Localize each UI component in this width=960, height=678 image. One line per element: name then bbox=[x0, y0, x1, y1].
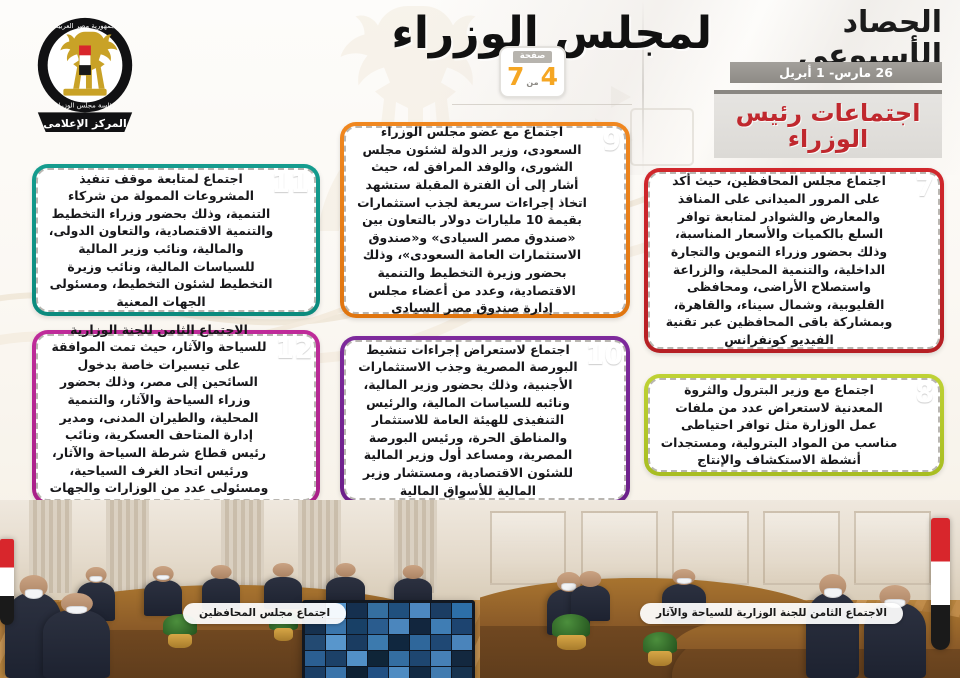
card-number-9: 9 bbox=[602, 128, 621, 155]
photo-caption-left: الاجتماع الثامن للجنة الوزارية للسياحة و… bbox=[640, 603, 903, 624]
card-inner-10: اجتماع لاستعراض إجراءات تنشيط البورصة ال… bbox=[344, 340, 626, 500]
infographic-page: جمهورية مصر العربية رئاسة مجلس الوزراء ا… bbox=[0, 0, 960, 678]
news-card-12[interactable]: 12 الاجتماع الثامن للجنة الوزارية للسياح… bbox=[32, 330, 320, 505]
section-header-title: اجتماعات رئيس الوزراء bbox=[714, 100, 942, 153]
page-badge-numbers: 4 من 7 bbox=[507, 64, 558, 89]
section-header: اجتماعات رئيس الوزراء bbox=[714, 90, 942, 158]
page-number-badge: صفحة 4 من 7 bbox=[499, 46, 566, 98]
card-text-11: اجتماع لمتابعة موقف تنفيذ المشروعات المم… bbox=[48, 170, 274, 311]
photo-governors-council-meeting: اجتماع مجلس المحافظين bbox=[0, 500, 480, 678]
title-harvest: الحصاد bbox=[722, 6, 942, 41]
news-card-7[interactable]: 7 اجتماع مجلس المحافظين، حيث أكد على الم… bbox=[644, 168, 944, 353]
card-number-12: 12 bbox=[275, 336, 313, 363]
card-inner-8: اجتماع مع وزير البترول والثروة المعدنية … bbox=[648, 378, 940, 472]
card-inner-7: اجتماع مجلس المحافظين، حيث أكد على المرو… bbox=[648, 172, 940, 349]
svg-text:رئاسة مجلس الوزراء: رئاسة مجلس الوزراء bbox=[55, 101, 115, 109]
page-badge-current: 4 bbox=[541, 64, 558, 89]
card-inner-12: الاجتماع الثامن للجنة الوزارية للسياحة و… bbox=[36, 334, 316, 501]
page-badge-label: صفحة bbox=[513, 51, 553, 63]
card-text-9: اجتماع مع عضو مجلس الوزراء السعودى، وزير… bbox=[356, 123, 588, 317]
news-card-11[interactable]: 11 اجتماع لمتابعة موقف تنفيذ المشروعات ا… bbox=[32, 164, 320, 316]
frame-box-decoration bbox=[630, 108, 694, 166]
hairline-decoration-1 bbox=[452, 104, 632, 105]
date-range-bar: 26 مارس- 1 أبريل bbox=[730, 62, 942, 83]
photo-caption-right: اجتماع مجلس المحافظين bbox=[183, 603, 346, 624]
date-range-text: 26 مارس- 1 أبريل bbox=[779, 65, 893, 80]
card-number-7: 7 bbox=[915, 174, 934, 201]
news-card-10[interactable]: 10 اجتماع لاستعراض إجراءات تنشيط البورصة… bbox=[340, 336, 630, 504]
card-number-10: 10 bbox=[585, 342, 623, 369]
photo-strip: الاجتماع الثامن للجنة الوزارية للسياحة و… bbox=[0, 500, 960, 678]
egypt-cabinet-media-center-logo: جمهورية مصر العربية رئاسة مجلس الوزراء ا… bbox=[26, 12, 144, 134]
card-number-8: 8 bbox=[915, 380, 934, 407]
news-card-8[interactable]: 8 اجتماع مع وزير البترول والثروة المعدني… bbox=[644, 374, 944, 476]
card-text-10: اجتماع لاستعراض إجراءات تنشيط البورصة ال… bbox=[356, 341, 580, 499]
page-badge-of: من bbox=[526, 78, 538, 87]
card-inner-9: اجتماع مع عضو مجلس الوزراء السعودى، وزير… bbox=[344, 126, 626, 314]
card-text-7: اجتماع مجلس المحافظين، حيث أكد على المرو… bbox=[660, 172, 898, 348]
room-artwork-left bbox=[480, 500, 960, 678]
card-number-11: 11 bbox=[271, 170, 309, 197]
card-text-8: اجتماع مع وزير البترول والثروة المعدنية … bbox=[660, 381, 898, 469]
news-card-9[interactable]: 9 اجتماع مع عضو مجلس الوزراء السعودى، وز… bbox=[340, 122, 630, 318]
page-badge-total: 7 bbox=[507, 64, 524, 89]
svg-text:جمهورية مصر العربية: جمهورية مصر العربية bbox=[55, 22, 115, 30]
svg-text:المركز الإعلامى: المركز الإعلامى bbox=[43, 117, 126, 130]
card-text-12: الاجتماع الثامن للجنة الوزارية للسياحة و… bbox=[48, 321, 270, 515]
room-artwork-right bbox=[0, 500, 480, 678]
photo-tourism-committee-meeting: الاجتماع الثامن للجنة الوزارية للسياحة و… bbox=[480, 500, 960, 678]
